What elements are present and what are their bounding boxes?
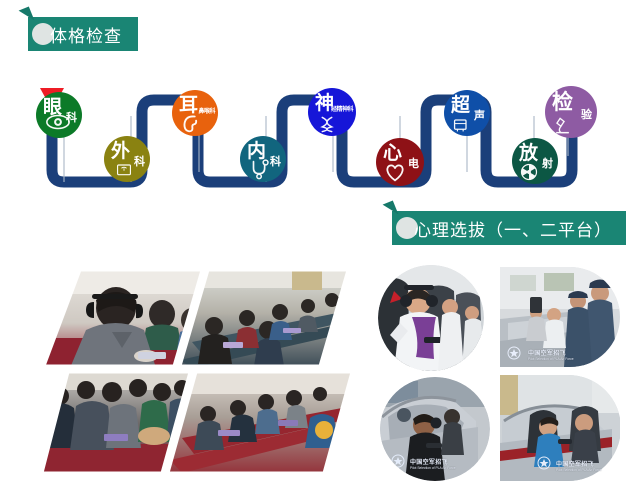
flow-node-5-sub: 经精神科 <box>331 107 353 113</box>
section-banner-psych: 心理选拔（一、二平台） <box>392 211 626 245</box>
airforce-brand-badge-3: 中国空军招飞 Pilot Selection of PLA Air Force <box>410 457 456 470</box>
flow-node-5: 神 经精神科 <box>308 88 356 136</box>
flow-node-8-sub: 射 <box>542 159 553 170</box>
section-banner-exam: 体格检查 <box>28 17 138 51</box>
collage-photo-2 <box>172 268 367 368</box>
collage-svg <box>42 268 367 480</box>
flow-node-7: 超 声 <box>444 90 490 136</box>
eye-icon <box>45 111 71 133</box>
flow-node-4: 内 科 <box>240 136 286 182</box>
stethoscope-icon <box>247 158 273 180</box>
flow-node-8-char: 放 <box>519 144 537 163</box>
banner-corner-icon-2 <box>383 200 399 218</box>
flow-node-9: 检 验 <box>545 86 597 138</box>
section-title-exam: 体格检查 <box>50 22 122 47</box>
airforce-brand-badge-2: 中国空军招飞 Pilot Selection of PLA Air Force <box>528 348 574 361</box>
flow-node-9-char: 检 <box>552 92 572 113</box>
ear-icon <box>178 112 204 134</box>
flow-node-8: 放 射 <box>512 138 558 184</box>
flow-node-6: 心 电 <box>376 138 424 186</box>
flow-node-3: 耳 鼻喉科 <box>172 90 218 136</box>
section-title-psych: 心理选拔（一、二平台） <box>414 216 612 241</box>
heart-icon <box>382 161 408 183</box>
poster-root: 体格检查 眼 科 <box>0 0 626 486</box>
flow-node-7-sub: 声 <box>474 111 485 122</box>
flow-node-2-char: 外 <box>111 142 129 161</box>
flow-node-7-char: 超 <box>451 96 469 115</box>
banner-corner-icon <box>19 6 35 24</box>
simulator-photo-4: 中国空军招飞 Pilot Selection of PLA Air Force <box>500 375 620 481</box>
dna-icon <box>316 115 338 134</box>
flow-node-1: 眼 科 <box>36 92 82 138</box>
flow-node-9-sub: 验 <box>581 110 592 121</box>
airforce-brand-badge-4: 中国空军招飞 Pilot Selection of PLA Air Force <box>556 459 602 472</box>
flight-simulator-photos: 中国空军招飞 Pilot Selection of PLA Air Force <box>378 265 622 483</box>
flow-node-2: 外 科 <box>104 136 150 182</box>
simulator-photo-2: 中国空军招飞 Pilot Selection of PLA Air Force <box>500 267 620 367</box>
simulator-photo-3: 中国空军招飞 Pilot Selection of PLA Air Force <box>380 377 490 481</box>
flow-node-2-sub: 科 <box>134 157 145 168</box>
simulator-photo-1 <box>378 265 484 371</box>
psych-test-photo-collage <box>42 268 367 480</box>
flow-node-6-sub: 电 <box>408 159 419 170</box>
physical-exam-flowchart: 眼 科 外 科 耳 鼻喉科 <box>0 86 626 190</box>
ultrasound-icon <box>451 116 471 134</box>
radiation-icon <box>520 163 538 181</box>
scale-icon <box>115 161 133 178</box>
microscope-icon <box>553 116 572 135</box>
